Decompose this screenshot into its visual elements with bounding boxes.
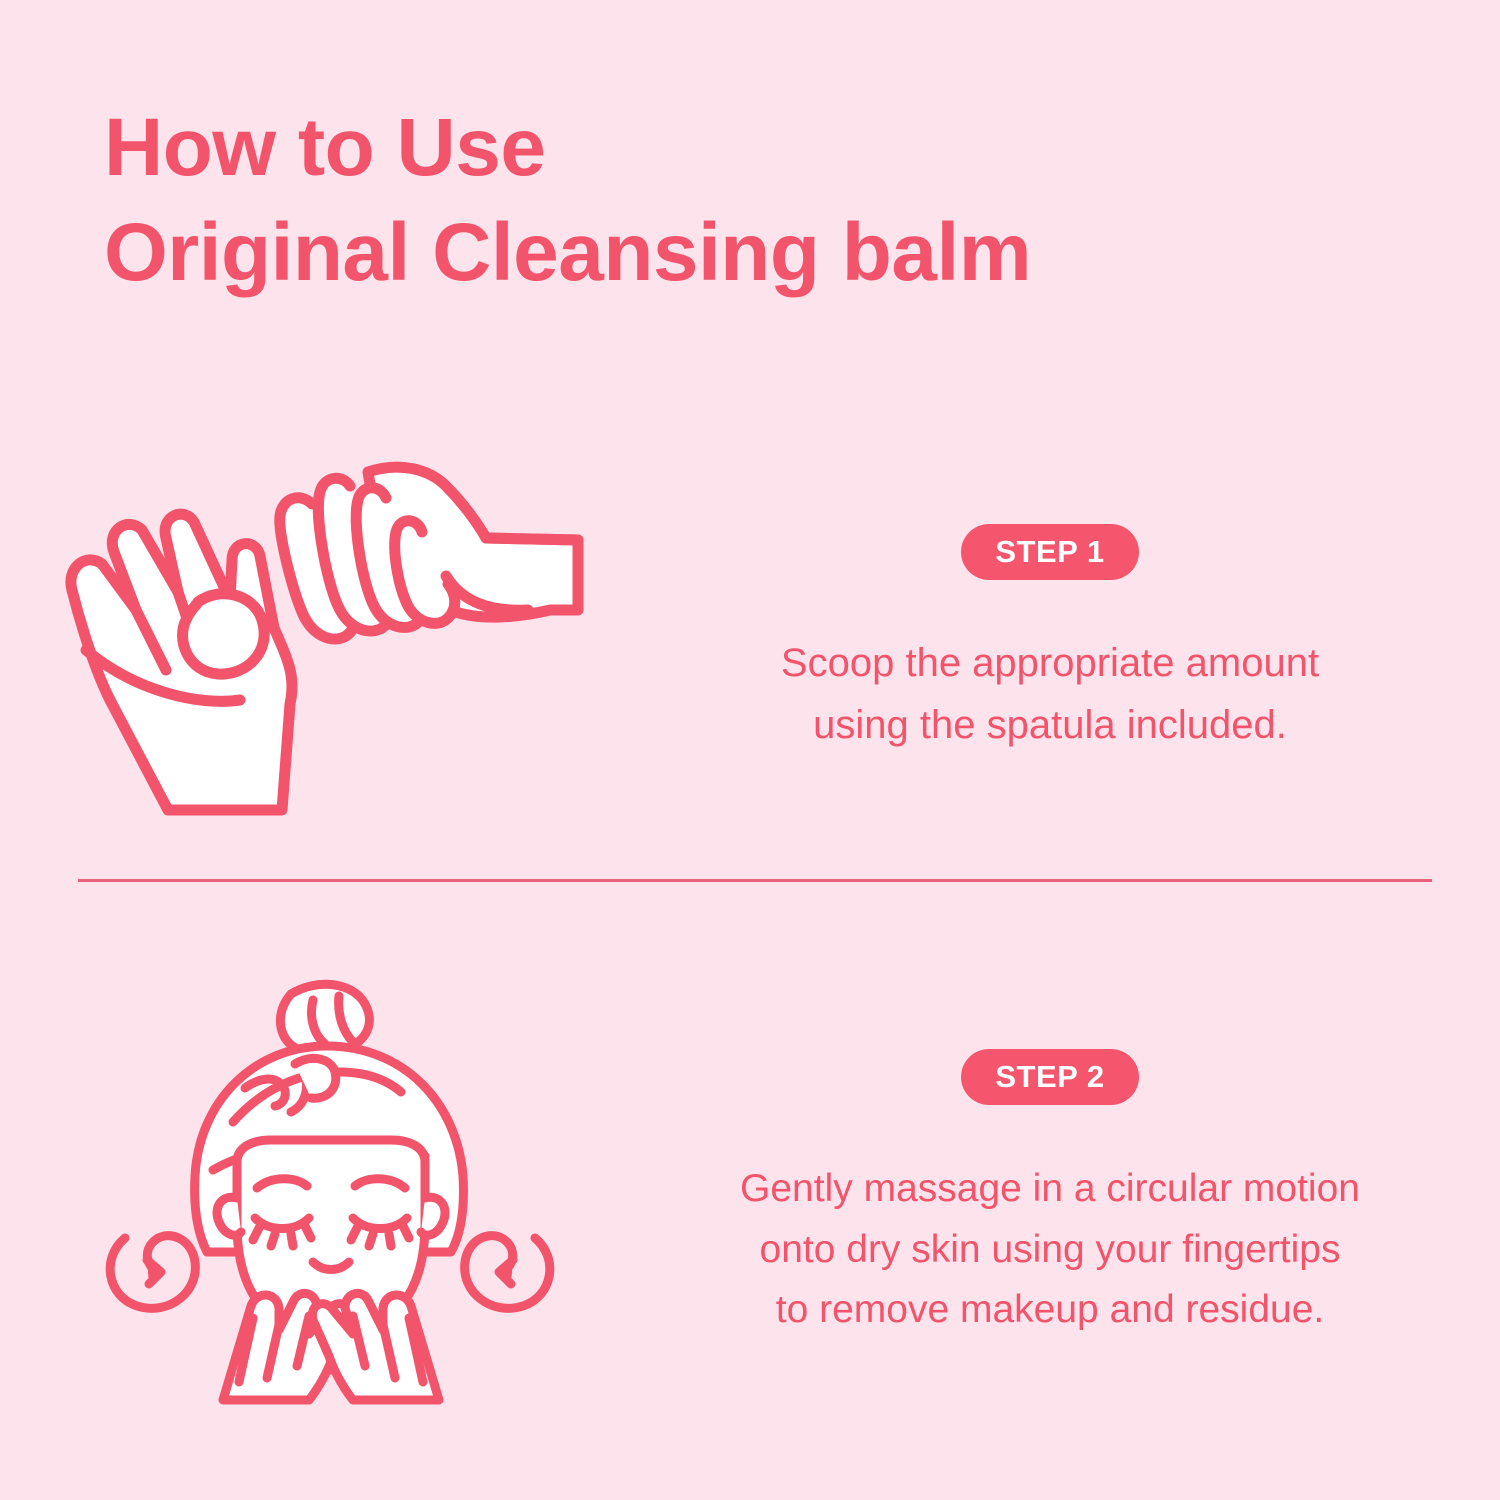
step-1-text-cell: STEP 1 Scoop the appropriate amount usin… xyxy=(660,430,1500,850)
step-2-text-cell: STEP 2 Gently massage in a circular moti… xyxy=(660,960,1500,1430)
step-2-description-line-2: onto dry skin using your fingertips xyxy=(740,1220,1360,1280)
step-1-illustration-cell xyxy=(0,430,660,850)
step-1-description-line-1: Scoop the appropriate amount xyxy=(781,632,1319,694)
step-2-row: STEP 2 Gently massage in a circular moti… xyxy=(0,960,1500,1430)
woman-massaging-face-icon xyxy=(95,980,565,1410)
step-1-description: Scoop the appropriate amount using the s… xyxy=(781,632,1319,756)
step-2-description-line-3: to remove makeup and residue. xyxy=(740,1280,1360,1340)
page-title-line-2: Original Cleansing balm xyxy=(104,201,1304,306)
step-2-description: Gently massage in a circular motion onto… xyxy=(740,1159,1360,1340)
circular-motion-arrow-left xyxy=(110,1236,195,1309)
page-title-line-1: How to Use xyxy=(104,96,1304,201)
step-1-badge: STEP 1 xyxy=(961,524,1138,580)
step-2-badge: STEP 2 xyxy=(961,1049,1138,1105)
how-to-use-infographic: How to Use Original Cleansing balm xyxy=(0,0,1500,1500)
page-title: How to Use Original Cleansing balm xyxy=(104,96,1304,306)
section-divider xyxy=(78,879,1432,882)
step-1-row: STEP 1 Scoop the appropriate amount usin… xyxy=(0,430,1500,850)
hand-scooping-balm-icon xyxy=(50,460,610,820)
step-2-illustration-cell xyxy=(0,960,660,1430)
step-1-description-line-2: using the spatula included. xyxy=(781,694,1319,756)
step-2-description-line-1: Gently massage in a circular motion xyxy=(740,1159,1360,1219)
circular-motion-arrow-right xyxy=(465,1236,550,1309)
